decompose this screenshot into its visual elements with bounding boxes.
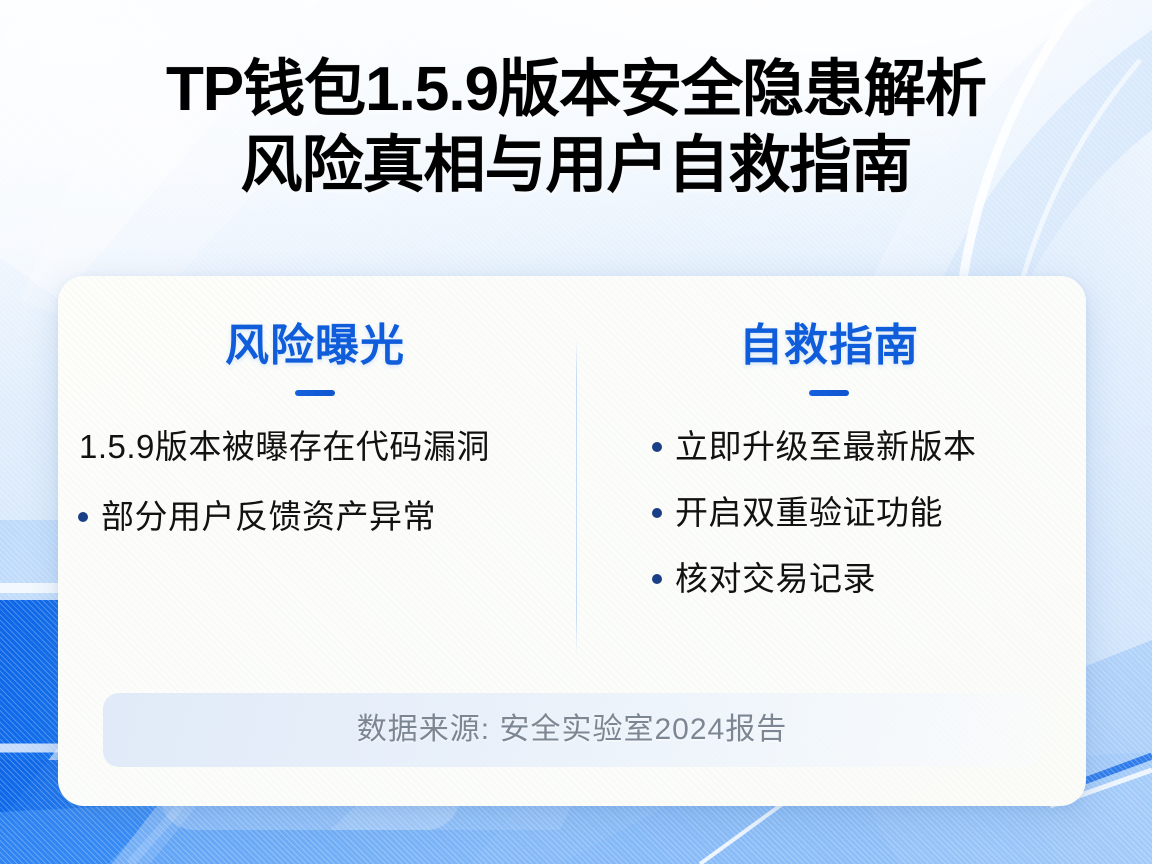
two-column-section: 风险曝光 1.5.9版本被曝存在代码漏洞 部分用户反馈资产异常 自救指南 [58, 320, 1086, 662]
list-item-label: 核对交易记录 [675, 558, 876, 600]
title-line-2: 风险真相与用户自救指南 [0, 128, 1152, 204]
list-item: 立即升级至最新版本 [652, 426, 1072, 468]
title-line-1: TP钱包1.5.9版本安全隐患解析 [0, 52, 1152, 128]
column-self-rescue-guide: 自救指南 立即升级至最新版本 开启双重验证功能 核对交易记录 [572, 320, 1086, 662]
bullet-dot-icon [652, 574, 662, 584]
column-risk-exposure: 风险曝光 1.5.9版本被曝存在代码漏洞 部分用户反馈资产异常 [58, 320, 572, 662]
list-item-label: 开启双重验证功能 [675, 492, 943, 534]
bullet-dot-icon [652, 508, 662, 518]
bullet-dot-icon [78, 512, 88, 522]
list-item-label: 1.5.9版本被曝存在代码漏洞 [79, 426, 490, 468]
bullet-dot-icon [652, 442, 662, 452]
column-divider [576, 338, 577, 656]
heading-rule-risk [295, 390, 335, 396]
list-item-label: 部分用户反馈资产异常 [101, 496, 436, 538]
poster-canvas: TP钱包1.5.9版本安全隐患解析 风险真相与用户自救指南 风险曝光 1.5.9… [0, 0, 1152, 864]
data-source-label: 数据来源: 安全实验室2024报告 [357, 711, 787, 749]
bullet-list-risk: 1.5.9版本被曝存在代码漏洞 部分用户反馈资产异常 [58, 426, 558, 538]
list-item: 1.5.9版本被曝存在代码漏洞 [58, 426, 558, 468]
list-item: 开启双重验证功能 [652, 492, 1072, 534]
column-heading-guide: 自救指南 [586, 320, 1072, 372]
data-source-bar: 数据来源: 安全实验室2024报告 [103, 693, 1041, 767]
heading-rule-guide [809, 390, 849, 396]
content-card: 风险曝光 1.5.9版本被曝存在代码漏洞 部分用户反馈资产异常 自救指南 [58, 276, 1086, 806]
list-item: 部分用户反馈资产异常 [78, 496, 558, 538]
bullet-list-guide: 立即升级至最新版本 开启双重验证功能 核对交易记录 [652, 426, 1072, 600]
page-title: TP钱包1.5.9版本安全隐患解析 风险真相与用户自救指南 [0, 52, 1152, 204]
list-item: 核对交易记录 [652, 558, 1072, 600]
column-heading-risk: 风险曝光 [72, 320, 558, 372]
list-item-label: 立即升级至最新版本 [675, 426, 977, 468]
